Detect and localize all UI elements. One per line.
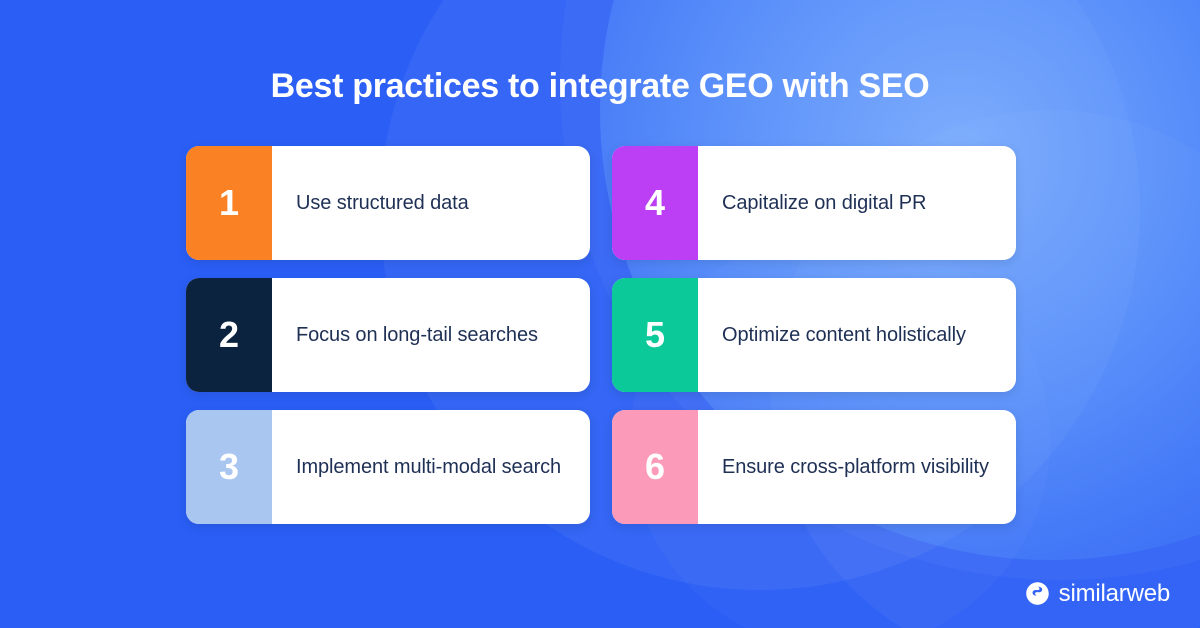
card-body-3: Implement multi-modal search bbox=[272, 410, 590, 524]
card-number-3: 3 bbox=[219, 449, 239, 485]
practices-grid: 1 Use structured data 4 Capitalize on di… bbox=[186, 146, 1016, 524]
card-label-4: Capitalize on digital PR bbox=[722, 190, 926, 216]
card-number-4: 4 bbox=[645, 185, 665, 221]
card-label-2: Focus on long-tail searches bbox=[296, 322, 538, 348]
card-number-block-5: 5 bbox=[612, 278, 698, 392]
card-number-6: 6 bbox=[645, 449, 665, 485]
practice-card-2: 2 Focus on long-tail searches bbox=[186, 278, 590, 392]
card-body-4: Capitalize on digital PR bbox=[698, 146, 1016, 260]
card-number-1: 1 bbox=[219, 185, 239, 221]
card-number-2: 2 bbox=[219, 317, 239, 353]
practice-card-6: 6 Ensure cross-platform visibility bbox=[612, 410, 1016, 524]
similarweb-wordmark: similarweb bbox=[1059, 582, 1170, 606]
card-body-1: Use structured data bbox=[272, 146, 590, 260]
card-label-3: Implement multi-modal search bbox=[296, 454, 561, 480]
page-title: Best practices to integrate GEO with SEO bbox=[0, 62, 1200, 110]
practice-card-4: 4 Capitalize on digital PR bbox=[612, 146, 1016, 260]
similarweb-logo: similarweb bbox=[1025, 581, 1170, 606]
practice-card-1: 1 Use structured data bbox=[186, 146, 590, 260]
card-body-2: Focus on long-tail searches bbox=[272, 278, 590, 392]
card-number-block-6: 6 bbox=[612, 410, 698, 524]
card-number-block-2: 2 bbox=[186, 278, 272, 392]
card-body-6: Ensure cross-platform visibility bbox=[698, 410, 1016, 524]
card-number-5: 5 bbox=[645, 317, 665, 353]
practice-card-3: 3 Implement multi-modal search bbox=[186, 410, 590, 524]
card-body-5: Optimize content holistically bbox=[698, 278, 1016, 392]
similarweb-swirl-icon bbox=[1025, 581, 1050, 606]
card-label-5: Optimize content holistically bbox=[722, 322, 966, 348]
card-label-6: Ensure cross-platform visibility bbox=[722, 454, 989, 480]
card-label-1: Use structured data bbox=[296, 190, 469, 216]
card-number-block-4: 4 bbox=[612, 146, 698, 260]
practice-card-5: 5 Optimize content holistically bbox=[612, 278, 1016, 392]
card-number-block-3: 3 bbox=[186, 410, 272, 524]
infographic-canvas: Best practices to integrate GEO with SEO… bbox=[0, 0, 1200, 628]
card-number-block-1: 1 bbox=[186, 146, 272, 260]
